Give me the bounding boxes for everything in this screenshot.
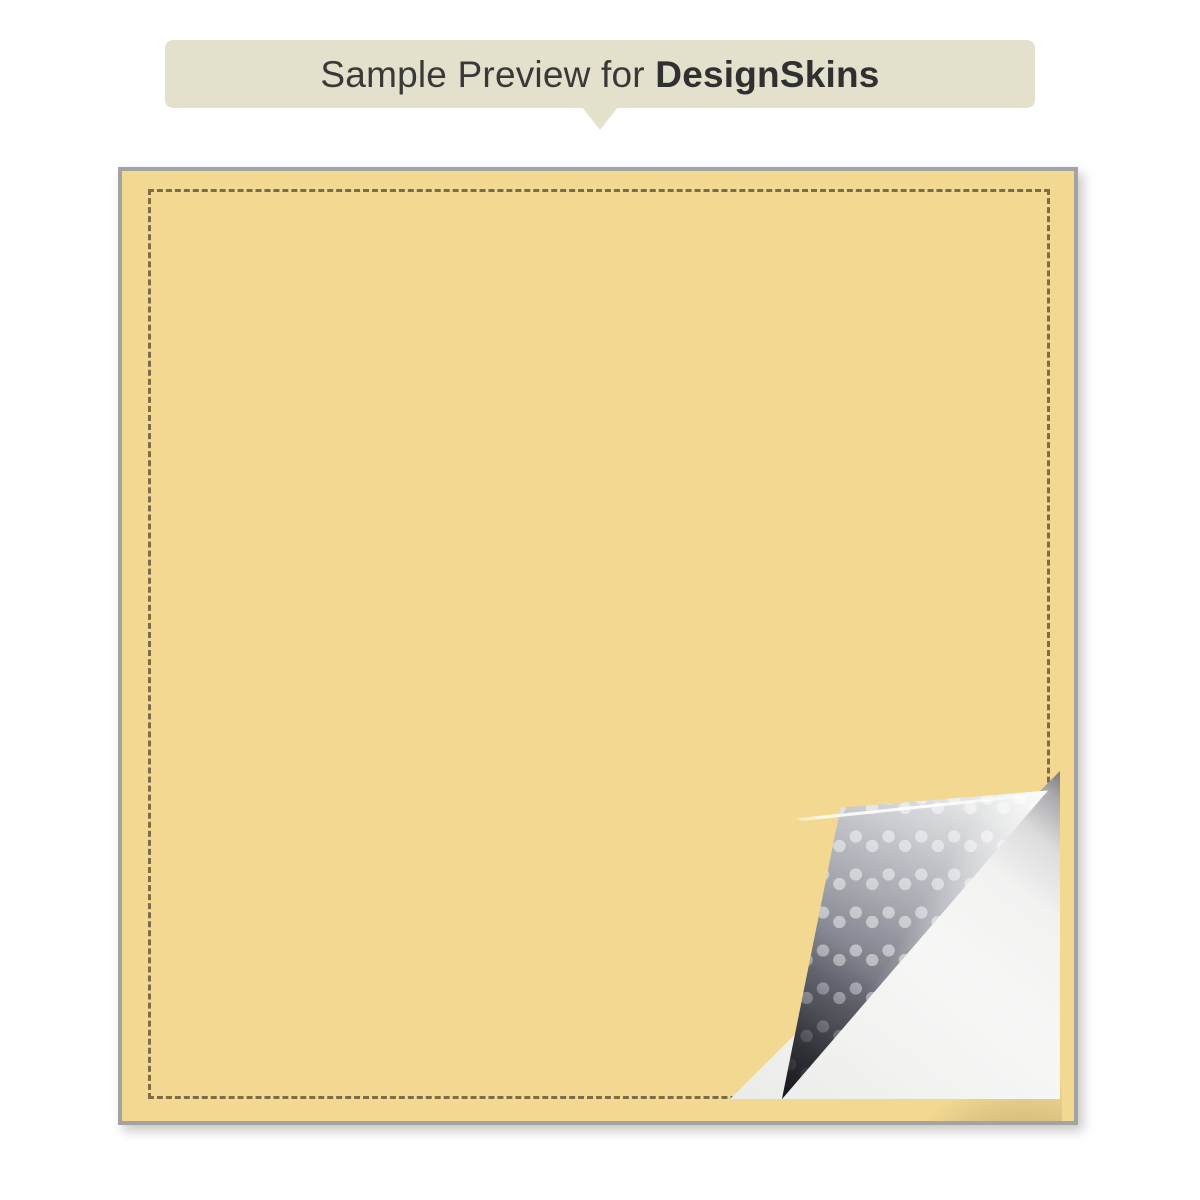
preview-banner: Sample Preview for DesignSkins (165, 40, 1035, 108)
preview-canvas: Sample Preview for DesignSkins (0, 0, 1200, 1200)
banner-brand-name: DesignSkins (655, 54, 879, 95)
sheet-color-fill (122, 171, 1074, 1121)
banner-title-prefix: Sample Preview for (320, 54, 655, 95)
banner-title: Sample Preview for DesignSkins (320, 56, 879, 93)
tooltip-tail-icon (582, 107, 618, 130)
skin-sheet (118, 167, 1078, 1125)
